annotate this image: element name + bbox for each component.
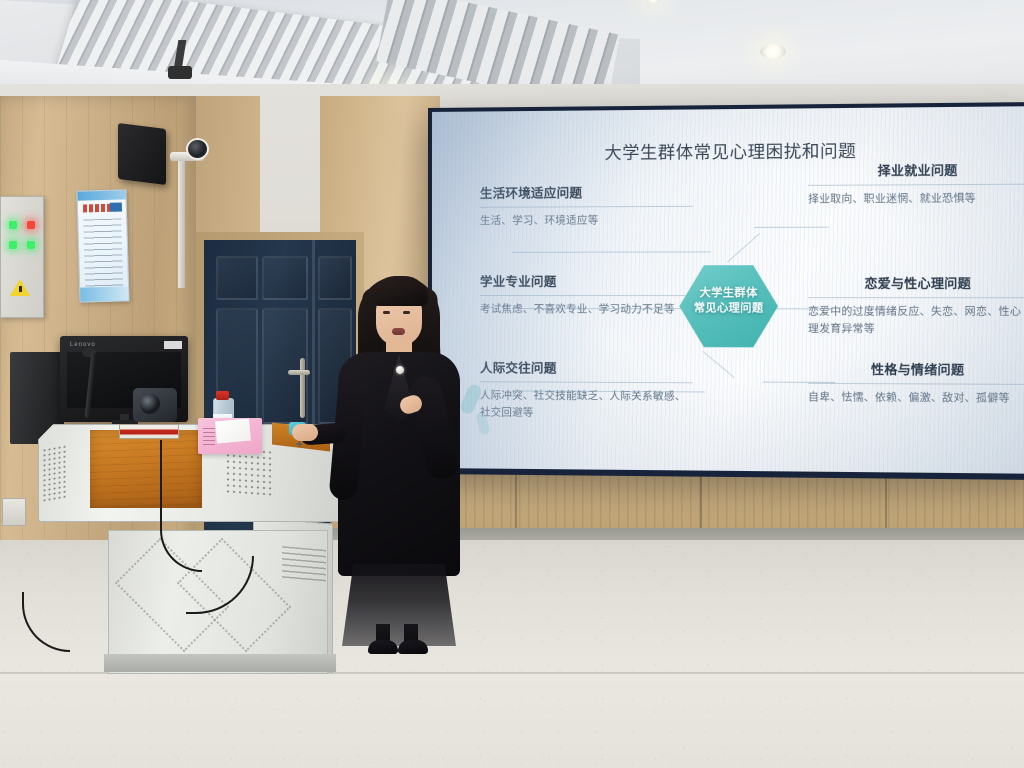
warning-triangle-icon [10,279,30,296]
slide-title: 大学生群体常见心理困扰和问题 [432,135,1024,165]
panel-led-green-2 [9,241,17,249]
poster-logo-icon [110,202,122,211]
projection-screen-frame: 大学生群体常见心理困扰和问题 生活环境适应问题 生活、学习、环境适应等 学业专业… [428,102,1024,480]
presenter [332,268,464,648]
connector-diagonal-bottom [703,351,735,378]
poster-body-lines [83,218,123,291]
downlight-icon-2 [760,44,786,59]
pink-name-card-text [203,428,215,445]
presenter-shoe-right [398,640,428,654]
red-white-box [119,424,179,439]
slide-item-heading: 学业专业问题 [480,274,693,290]
slide-item-left-2: 学业专业问题 考试焦虑、不喜欢专业、学习动力不足等 [480,274,693,319]
pink-name-card-paper [215,419,251,444]
projection-screen[interactable]: 大学生群体常见心理困扰和问题 生活环境适应问题 生活、学习、环境适应等 学业专业… [432,106,1024,474]
slide-item-rule [480,382,693,384]
slide-item-detail: 恋爱中的过度情绪反应、失恋、网恋、性心理发育异常等 [808,303,1024,338]
security-camera-icon [186,138,209,160]
slide-item-heading: 性格与情绪问题 [808,361,1024,379]
monitor-sticker [164,341,182,349]
connector-left-2 [512,308,695,309]
slide-item-rule [808,297,1024,298]
slide-item-detail: 自卑、怯懦、依赖、偏激、敌对、孤僻等 [808,389,1024,408]
safety-notice-poster [76,189,129,302]
presenter-eye-right [403,311,410,314]
camera-pole [178,158,185,288]
connector-diagonal-top [727,233,760,262]
slide-item-right-3: 性格与情绪问题 自卑、怯懦、依赖、偏激、敌对、孤僻等 [808,361,1024,407]
presenter-eye-left [383,311,390,314]
poster-header-band [77,190,125,200]
slide-item-detail: 生活、学习、环境适应等 [480,212,693,230]
slide-item-heading: 择业就业问题 [808,162,1024,180]
connector-right-2 [769,308,833,309]
slide-item-right-1: 择业就业问题 择业取向、职业迷惘、就业恐惧等 [808,162,1024,209]
door-handle-icon[interactable] [288,370,310,375]
wall-socket-icon[interactable] [2,498,26,526]
presenter-reaching-hand [292,424,318,441]
center-hexagon-label-line2: 常见心理问题 [694,302,764,314]
slide-item-rule [808,184,1024,186]
panel-led-red-1 [27,221,35,229]
presentation-slide: 大学生群体常见心理困扰和问题 生活环境适应问题 生活、学习、环境适应等 学业专业… [432,106,1024,474]
slide-item-detail: 择业取向、职业迷惘、就业恐惧等 [808,190,1024,208]
water-bottle-cap-icon [216,391,229,400]
door-panel-tl [216,256,258,300]
connector-right-3 [763,382,836,383]
wall-speaker-icon [118,123,166,185]
slide-item-rule [480,295,693,296]
panel-led-green-3 [27,241,35,249]
slide-item-left-1: 生活环境适应问题 生活、学习、环境适应等 [480,185,693,231]
slide-item-right-2: 恋爱与性心理问题 恋爱中的过度情绪反应、失恋、网恋、性心理发育异常等 [808,276,1024,339]
connector-left-1 [512,251,711,252]
slide-item-heading: 人际交往问题 [480,360,693,377]
projector-head-icon [168,66,192,79]
slide-item-heading: 恋爱与性心理问题 [808,276,1024,293]
downlight-icon-3 [646,0,660,3]
door-panel-tm [262,256,308,300]
lectern-vent-slots [282,546,326,584]
slide-item-detail: 人际冲突、社交技能缺乏、人际关系敏感、社交回避等 [480,388,693,424]
poster-footer-band [80,286,128,301]
webcam-lens-icon [140,394,160,414]
center-hexagon-label: 大学生群体 常见心理问题 [679,286,778,316]
presenter-mouth [392,328,405,335]
lecture-hall-scene: 大学生群体常见心理困扰和问题 生活环境适应问题 生活、学习、环境适应等 学业专业… [0,0,1024,768]
presenter-hair-top [372,276,428,306]
power-cable-1 [160,440,202,572]
slide-item-rule [808,383,1024,385]
center-hexagon-label-line1: 大学生群体 [700,287,758,299]
presenter-pearl-necklace [396,366,404,374]
lectern-speaker-grille-left [42,444,68,505]
connector-right-1 [754,227,829,228]
electrical-panel[interactable] [0,196,44,318]
slide-item-heading: 生活环境适应问题 [480,185,693,202]
presenter-skirt [342,564,456,646]
lectern-plinth [104,654,336,672]
panel-led-green-1 [9,221,17,229]
slide-item-rule [480,206,693,208]
presenter-shoe-left [368,640,398,654]
door-push-bar[interactable] [300,358,305,418]
slide-item-detail: 考试焦虑、不喜欢专业、学习动力不足等 [480,301,693,318]
